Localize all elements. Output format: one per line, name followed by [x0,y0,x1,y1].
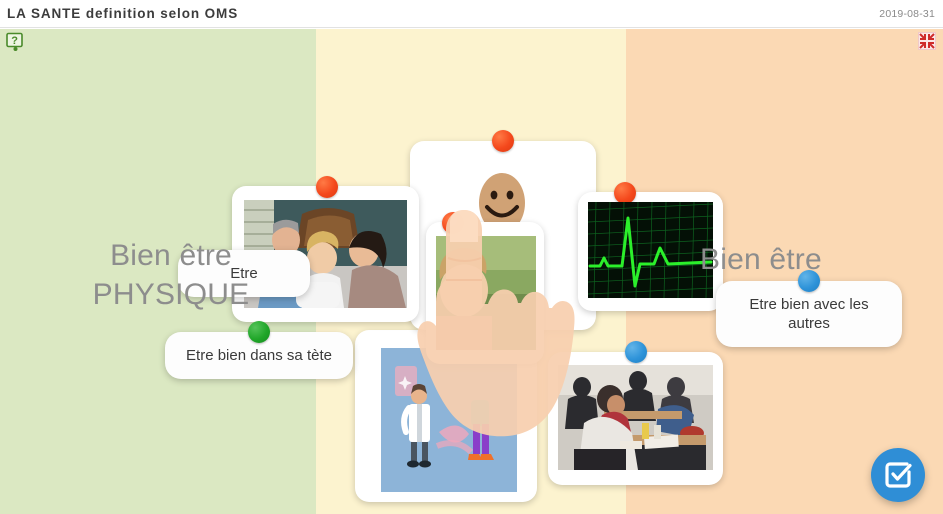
pin-red [316,176,338,198]
exit-fullscreen-icon[interactable] [918,32,936,50]
page-title: LA SANTE definition selon OMS [7,6,238,21]
callout-social-text: Etre bien avec les autres [728,295,890,333]
slide-viewer: LA SANTE definition selon OMS 2019-08-31… [0,0,943,514]
card-group-meeting[interactable] [548,352,723,485]
callout-mental[interactable]: Etre bien dans sa tète [165,332,353,379]
callout-mental-text: Etre bien dans sa tète [186,346,332,365]
pin-red [442,212,464,234]
help-question-icon[interactable]: ? [6,32,26,52]
doctor-and-patient-illustration [381,348,517,492]
pin-red [614,182,636,204]
label-bien-etre-physique: Bien être PHYSIQUE [56,236,286,314]
ecg-heartbeat-photo [588,202,713,298]
pin-blue [625,341,647,363]
date-label: 2019-08-31 [879,8,935,20]
card-child-outdoor[interactable] [426,222,544,364]
title-bar: LA SANTE definition selon OMS 2019-08-31 [0,0,943,28]
people-around-table-photo [558,365,713,470]
pin-red [492,130,514,152]
svg-text:?: ? [11,35,18,47]
pin-green [248,321,270,343]
child-outdoors-photo [436,236,536,350]
check-square-icon [883,460,913,490]
label-bien-etre-social: Bien être [700,240,920,279]
callout-social[interactable]: Etre bien avec les autres [716,281,902,347]
check-task-button[interactable] [871,448,925,502]
